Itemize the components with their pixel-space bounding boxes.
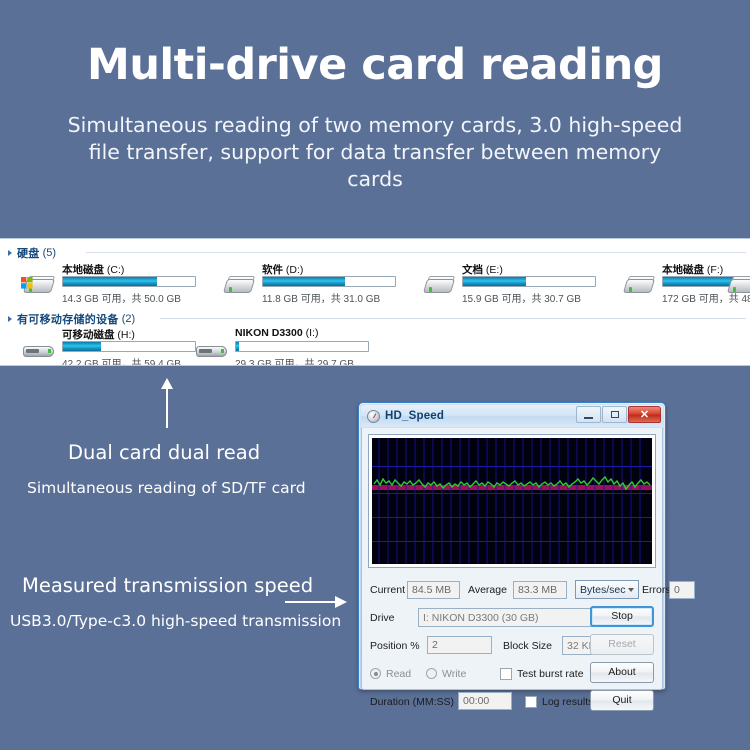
hd-speed-window: HD_Speed ✕ <box>358 402 666 690</box>
explorer-drive-panel: 硬盘 (5) 本地磁盘 (C:) 14.3 GB 可用，共 50.0 GB 软件… <box>0 238 750 366</box>
annotation-sub-1: Simultaneous reading of SD/TF card <box>27 479 306 497</box>
drive-capacity-bar <box>235 341 369 352</box>
duration-label: Duration (MM:SS) <box>370 692 454 712</box>
drive-select-value: I: NIKON D3300 (30 GB) <box>423 612 539 624</box>
current-label: Current <box>370 580 405 600</box>
drive-label: Drive <box>370 608 395 628</box>
stats-row: Current 84.5 MB Average 83.3 MB Bytes/se… <box>370 580 654 600</box>
drive-group-header-harddisk[interactable]: 硬盘 (5) <box>8 245 56 261</box>
removable-drive-icon <box>195 342 231 366</box>
page-subtitle: Simultaneous reading of two memory cards… <box>62 112 688 193</box>
units-select[interactable]: Bytes/sec <box>575 580 639 599</box>
collapse-triangle-icon[interactable] <box>8 250 12 256</box>
group-divider <box>86 252 746 253</box>
drive-label: 本地磁盘 (C:) <box>62 262 124 277</box>
chevron-down-icon <box>628 588 634 592</box>
drive-label: 文档 (E:) <box>462 262 503 277</box>
arrow-right-icon <box>285 595 347 609</box>
collapse-triangle-icon[interactable] <box>8 316 12 322</box>
window-body: Current 84.5 MB Average 83.3 MB Bytes/se… <box>361 428 663 690</box>
drive-item-e[interactable]: 文档 (E:) 15.9 GB 可用，共 30.7 GB <box>422 263 597 307</box>
position-label: Position % <box>370 636 420 656</box>
window-title: HD_Speed <box>385 410 444 422</box>
gauge-icon <box>367 410 380 423</box>
hero-banner: Multi-drive card reading Simultaneous re… <box>0 0 750 230</box>
hard-disk-system-icon <box>22 275 58 301</box>
errors-label: Errors <box>642 580 671 600</box>
blocksize-label: Block Size <box>503 636 552 656</box>
drive-group-header-removable[interactable]: 有可移动存储的设备 (2) <box>8 311 135 327</box>
hd-speed-controls: Current 84.5 MB Average 83.3 MB Bytes/se… <box>362 576 662 689</box>
maximize-button[interactable] <box>602 406 627 423</box>
hard-disk-icon <box>222 275 258 301</box>
write-label: Write <box>442 664 466 684</box>
hard-disk-icon <box>622 275 658 301</box>
hard-disk-icon <box>422 275 458 301</box>
drive-label: 软件 (D:) <box>262 262 303 277</box>
drive-label: 本地磁盘 (F:) <box>662 262 723 277</box>
drive-group-count: (5) <box>43 247 56 259</box>
drive-label: NIKON D3300 (I:) <box>235 327 318 339</box>
drive-free-space: 11.8 GB 可用，共 31.0 GB <box>262 290 380 305</box>
group-divider <box>160 318 746 319</box>
log-results-checkbox[interactable] <box>525 696 537 708</box>
drive-group-name: 硬盘 <box>17 245 40 261</box>
annotation-heading-1: Dual card dual read <box>68 441 260 464</box>
window-buttons: ✕ <box>576 406 661 423</box>
hard-disk-icon-partial <box>726 275 750 301</box>
page-title: Multi-drive card reading <box>0 40 750 90</box>
position-input[interactable]: 2 <box>427 636 492 654</box>
units-value: Bytes/sec <box>580 584 626 596</box>
about-button[interactable]: About <box>590 662 654 683</box>
stop-button[interactable]: Stop <box>590 606 654 627</box>
quit-button[interactable]: Quit <box>590 690 654 711</box>
drive-group-name: 有可移动存储的设备 <box>17 311 119 327</box>
drive-capacity-bar <box>62 341 196 352</box>
drive-free-space: 29.3 GB 可用，共 29.7 GB <box>235 355 354 366</box>
speed-series-line <box>372 438 652 564</box>
read-radio[interactable] <box>370 668 381 679</box>
test-burst-label: Test burst rate <box>517 664 584 684</box>
close-button[interactable]: ✕ <box>628 406 661 423</box>
drive-free-space: 14.3 GB 可用，共 50.0 GB <box>62 290 181 305</box>
drive-capacity-bar <box>62 276 196 287</box>
drive-label: 可移动磁盘 (H:) <box>62 327 135 342</box>
minimize-button[interactable] <box>576 406 601 423</box>
write-radio[interactable] <box>426 668 437 679</box>
drive-item-i[interactable]: NIKON D3300 (I:) 29.3 GB 可用，共 29.7 GB <box>195 328 375 366</box>
speed-graph-frame <box>368 434 656 568</box>
average-value: 83.3 MB <box>513 581 567 599</box>
drive-capacity-bar <box>462 276 596 287</box>
arrow-up-icon <box>160 378 174 428</box>
reset-button[interactable]: Reset <box>590 634 654 655</box>
removable-drive-icon <box>22 342 58 366</box>
drive-item-d[interactable]: 软件 (D:) 11.8 GB 可用，共 31.0 GB <box>222 263 397 307</box>
speed-graph <box>372 438 652 564</box>
errors-value: 0 <box>669 581 695 599</box>
drive-item-c[interactable]: 本地磁盘 (C:) 14.3 GB 可用，共 50.0 GB <box>22 263 197 307</box>
read-label: Read <box>386 664 411 684</box>
annotation-sub-2: USB3.0/Type-c3.0 high-speed transmission <box>10 612 341 630</box>
drive-item-h[interactable]: 可移动磁盘 (H:) 42.2 GB 可用，共 59.4 GB <box>22 328 197 366</box>
duration-value: 00:00 <box>458 692 512 710</box>
test-burst-checkbox[interactable] <box>500 668 512 680</box>
window-titlebar[interactable]: HD_Speed ✕ <box>361 405 663 427</box>
average-label: Average <box>468 580 507 600</box>
current-value: 84.5 MB <box>407 581 460 599</box>
drive-free-space: 15.9 GB 可用，共 30.7 GB <box>462 290 581 305</box>
drive-free-space: 42.2 GB 可用，共 59.4 GB <box>62 355 181 366</box>
drive-capacity-bar <box>262 276 396 287</box>
annotation-heading-2: Measured transmission speed <box>22 574 313 597</box>
drive-group-count: (2) <box>122 313 135 325</box>
